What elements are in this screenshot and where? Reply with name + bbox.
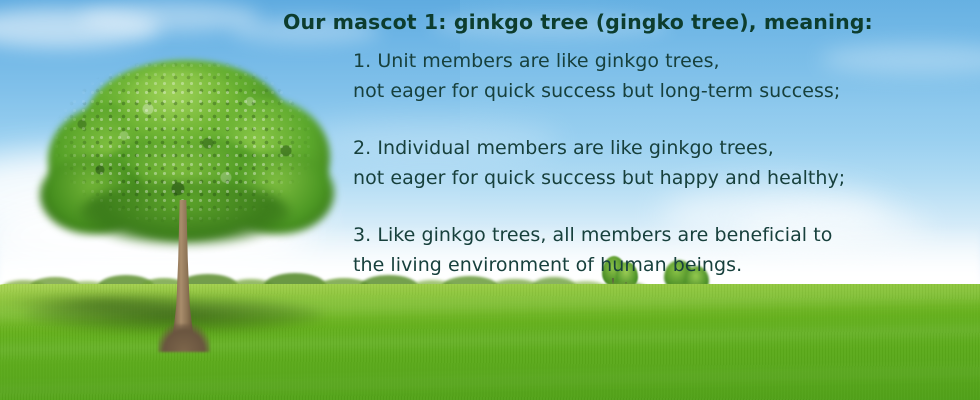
paragraph-line: the living environment of human beings. bbox=[353, 250, 953, 280]
paragraph-1: 1. Unit members are like ginkgo trees, n… bbox=[353, 46, 953, 106]
paragraph-2: 2. Individual members are like ginkgo tr… bbox=[353, 133, 953, 193]
paragraph-line: not eager for quick success but happy an… bbox=[353, 163, 953, 193]
paragraph-line: not eager for quick success but long-ter… bbox=[353, 76, 953, 106]
mascot-banner: Our mascot 1: ginkgo tree (gingko tree),… bbox=[0, 0, 980, 400]
paragraph-3: 3. Like ginkgo trees, all members are be… bbox=[353, 220, 953, 280]
tree-root-flare bbox=[158, 324, 210, 352]
mascot-tree bbox=[34, 52, 334, 304]
page-title: Our mascot 1: ginkgo tree (gingko tree),… bbox=[283, 10, 873, 34]
paragraph-line: 2. Individual members are like ginkgo tr… bbox=[353, 133, 953, 163]
paragraph-line: 3. Like ginkgo trees, all members are be… bbox=[353, 220, 953, 250]
mascot-description: 1. Unit members are like ginkgo trees, n… bbox=[353, 46, 953, 280]
paragraph-line: 1. Unit members are like ginkgo trees, bbox=[353, 46, 953, 76]
